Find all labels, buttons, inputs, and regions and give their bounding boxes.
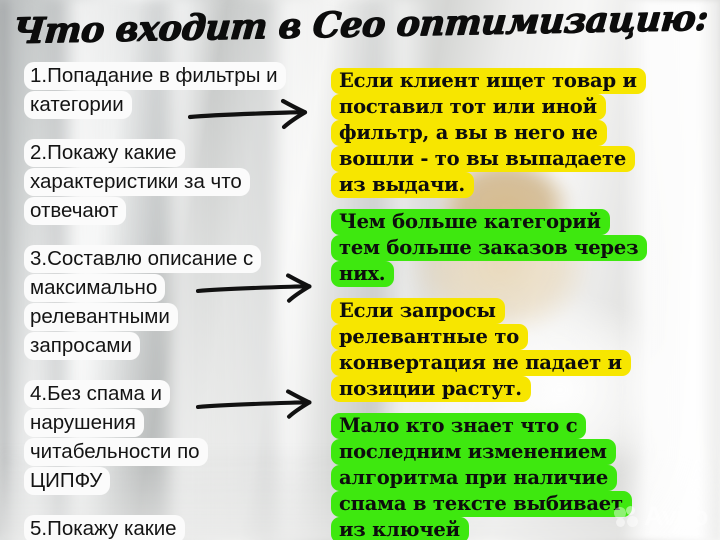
note-block-3: Если запросырелевантные токонвертация не… — [331, 298, 661, 402]
note-line: них. — [331, 261, 394, 287]
left-step-line: читабельности по — [24, 438, 208, 466]
note-line: вошли - то вы выпадаете — [331, 146, 635, 172]
note-line: из ключей — [331, 517, 469, 540]
note-line: алгоритма при наличие — [331, 465, 617, 491]
left-step-line: запросами — [24, 332, 140, 360]
arrow-1-icon — [188, 98, 318, 134]
note-line: поставил тот или иной — [331, 94, 606, 120]
left-step-5: 5.Покажу какиеключевые запросыподтянутся… — [24, 515, 324, 540]
left-step-line: релевантными — [24, 303, 178, 331]
left-step-line: отвечают — [24, 197, 126, 225]
note-line: Мало кто знает что с — [331, 413, 586, 439]
note-line: Чем больше категорий — [331, 209, 610, 235]
left-step-line: нарушения — [24, 409, 144, 437]
left-step-line: категории — [24, 91, 132, 119]
left-step-2: 2.Покажу какиехарактеристики за чтоотвеч… — [24, 139, 324, 225]
note-line: фильтр, а вы в него не — [331, 120, 607, 146]
right-notes-list: Если клиент ищет товар ипоставил тот или… — [331, 68, 661, 540]
note-line: Если запросы — [331, 298, 505, 324]
left-step-line: 1.Попадание в фильтры и — [24, 62, 286, 90]
note-block-1: Если клиент ищет товар ипоставил тот или… — [331, 68, 661, 198]
note-line: из выдачи. — [331, 172, 474, 198]
left-step-line: 5.Покажу какие — [24, 515, 185, 540]
note-line: позиции растут. — [331, 376, 531, 402]
note-block-4: Мало кто знает что споследним изменением… — [331, 413, 661, 540]
left-step-line: характеристики за что — [24, 168, 250, 196]
avito-watermark: Avito — [614, 503, 708, 530]
arrow-3-icon — [196, 388, 322, 424]
note-line: тем больше заказов через — [331, 235, 647, 261]
slide-canvas: Что входит в Сео оптимизацию: 1.Попадани… — [0, 0, 720, 540]
left-step-line: 4.Без спама и — [24, 380, 170, 408]
left-step-line: ЦИПФУ — [24, 467, 110, 495]
note-line: релевантные то — [331, 324, 528, 350]
avito-wordmark: Avito — [644, 503, 708, 530]
note-line: конвертация не падает и — [331, 350, 631, 376]
left-step-line: 3.Составлю описание с — [24, 245, 261, 273]
avito-logo-icon — [614, 506, 639, 528]
note-line: последним изменением — [331, 439, 616, 465]
note-block-2: Чем больше категорийтем больше заказов ч… — [331, 209, 661, 287]
arrow-2-icon — [196, 272, 322, 308]
note-line: Если клиент ищет товар и — [331, 68, 646, 94]
note-line: спама в тексте выбивает — [331, 491, 632, 517]
left-step-line: 2.Покажу какие — [24, 139, 185, 167]
left-step-line: максимально — [24, 274, 165, 302]
